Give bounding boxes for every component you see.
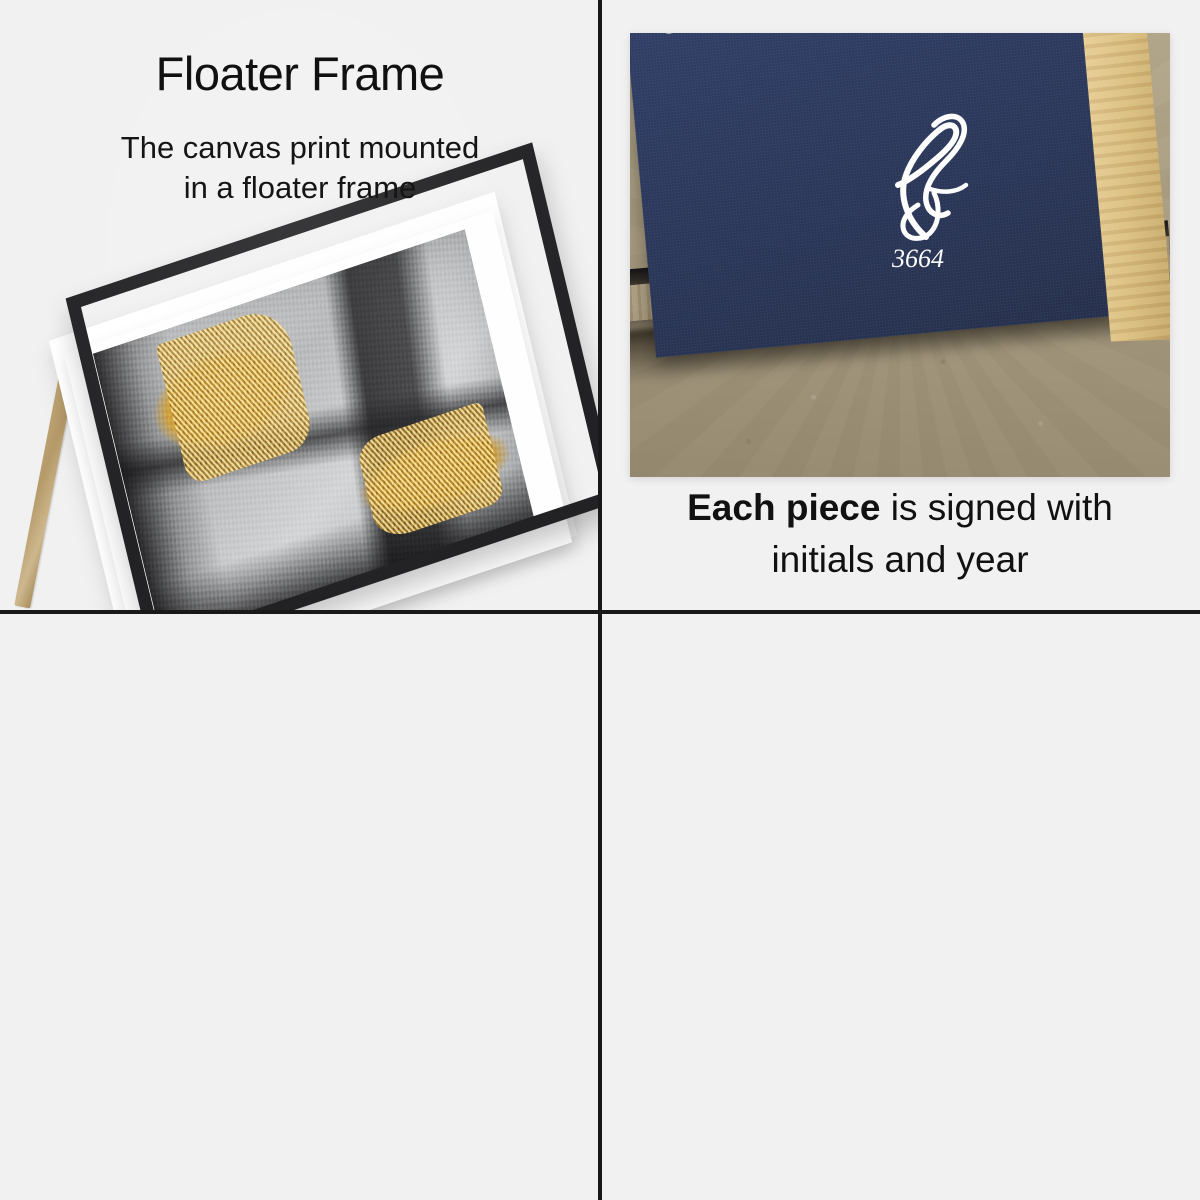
caption-line-1: Each piece is signed with (618, 482, 1182, 534)
panel-signed-piece: 3664 Each piece is signed with initials … (600, 0, 1200, 612)
subtitle-line-2: in a floater frame (0, 168, 600, 208)
panel-floater-frame: Floater Frame The canvas print mounted i… (0, 0, 600, 612)
subtitle-line-1: The canvas print mounted (0, 128, 600, 168)
product-infographic: Floater Frame The canvas print mounted i… (0, 0, 1200, 1200)
artist-signature: 3664 (868, 101, 998, 276)
caption-rest: is signed with (880, 487, 1112, 528)
signature-year: 3664 (891, 244, 944, 273)
signed-canvas-photo: 3664 (630, 33, 1170, 477)
panel-ready-to-hang: Ready To Hang On Your Wall Comes with a … (600, 612, 1200, 1200)
panel-subtitle-floater-frame: The canvas print mounted in a floater fr… (0, 128, 600, 208)
panel-caption-signed-piece: Each piece is signed with initials and y… (600, 482, 1200, 586)
panel-title-floater-frame: Floater Frame (0, 46, 600, 102)
caption-emphasis: Each piece (687, 487, 880, 528)
panel-handmade: Handmade Like Original Painting The canv… (0, 612, 600, 1200)
caption-line-2: initials and year (618, 534, 1182, 586)
